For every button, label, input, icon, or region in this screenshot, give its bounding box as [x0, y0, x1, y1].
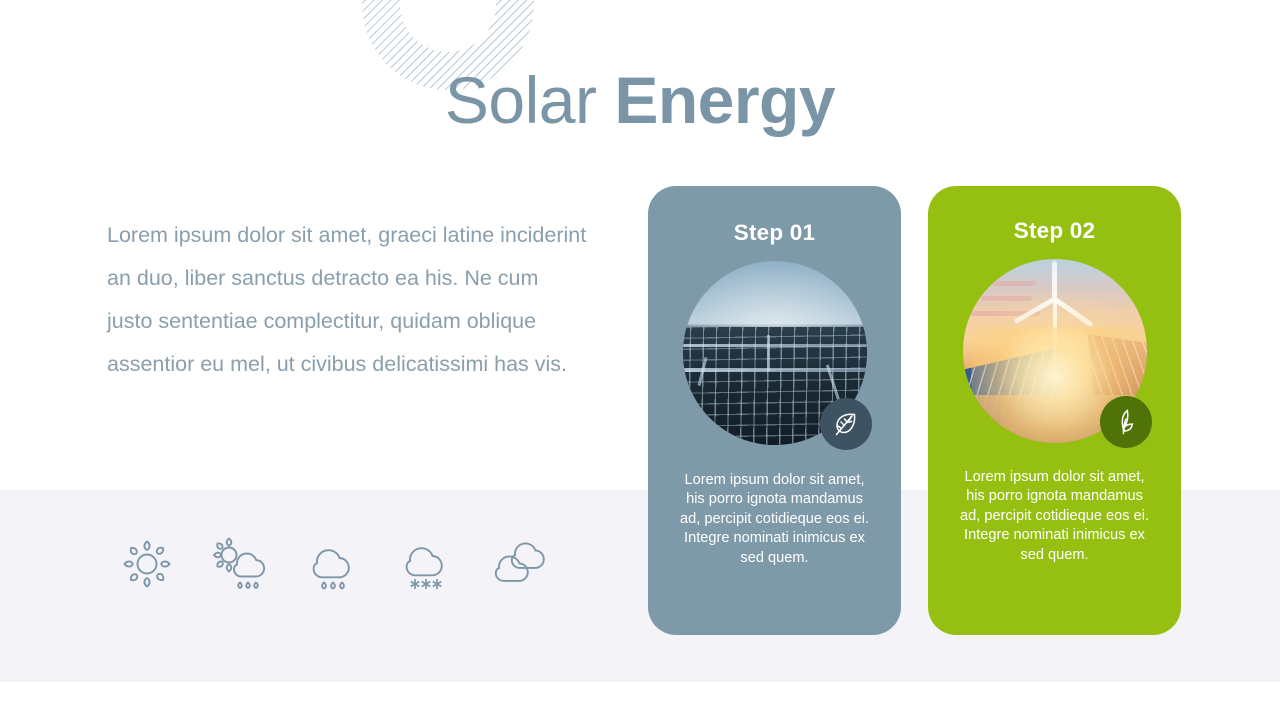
step-card-2[interactable]: Step 02 Lorem ipsum dolor sit amet, his … — [928, 186, 1181, 635]
sun-icon — [100, 535, 194, 593]
step-card-2-photo-wrap — [963, 259, 1147, 443]
leaf-icon-badge — [820, 398, 872, 450]
step-card-2-title: Step 02 — [1014, 218, 1095, 244]
cloud-snow-icon — [382, 535, 476, 593]
page-title: Solar Energy — [0, 58, 1280, 142]
step-card-2-body: Lorem ipsum dolor sit amet, his porro ig… — [959, 468, 1151, 565]
page-title-light: Solar — [445, 63, 597, 137]
step-card-1[interactable]: Step 01 Lorem ipsum dolor sit amet, his … — [648, 186, 901, 635]
lead-paragraph: Lorem ipsum dolor sit amet, graeci latin… — [107, 214, 587, 386]
page-title-bold: Energy — [614, 63, 835, 137]
sun-cloud-rain-icon — [194, 535, 288, 593]
weather-icon-row — [100, 535, 570, 593]
step-card-1-title: Step 01 — [734, 220, 815, 246]
step-card-1-body: Lorem ipsum dolor sit amet, his porro ig… — [679, 471, 871, 568]
sprout-icon-badge — [1100, 396, 1152, 448]
step-card-1-photo-wrap — [683, 261, 867, 445]
cloud-rain-icon — [288, 535, 382, 593]
clouds-icon — [476, 535, 570, 593]
